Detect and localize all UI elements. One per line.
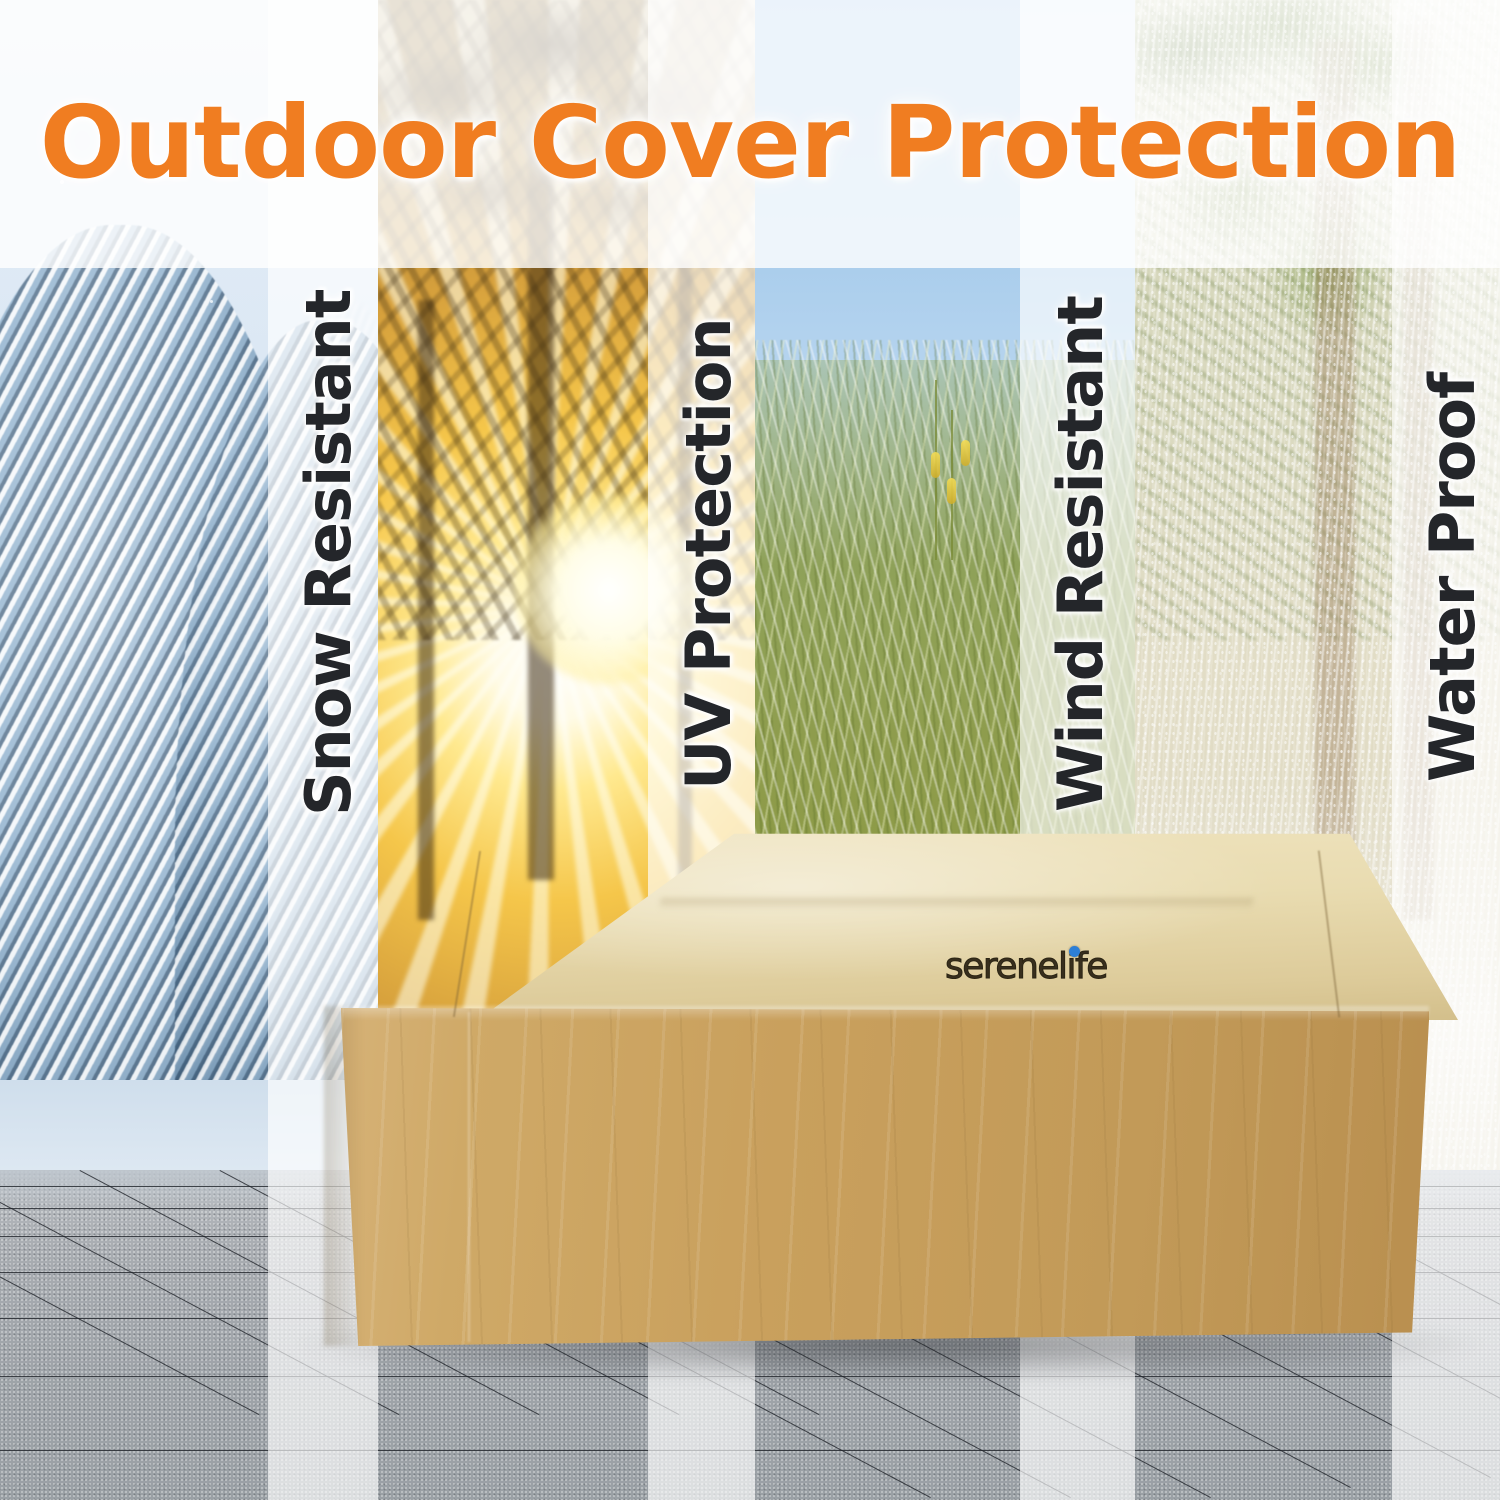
feature-label-uv-protection: UV Protection — [672, 318, 745, 790]
cover-top-sheen — [318, 830, 1458, 1020]
snowflake — [210, 300, 213, 303]
cover-top-rim-highlight — [341, 1006, 1430, 1020]
uv-tree-trunk — [528, 120, 554, 880]
brand-logo-dot-icon — [1069, 946, 1080, 957]
feature-label-snow-resistant: Snow Resistant — [292, 290, 365, 816]
cover-left-edge-shading — [324, 1006, 364, 1346]
wind-yellow-flower — [931, 452, 940, 478]
feature-label-water-proof: Water Proof — [1416, 373, 1489, 782]
patio-furniture-cover — [318, 830, 1458, 1350]
feature-label-wind-resistant: Wind Resistant — [1044, 296, 1117, 812]
headline-title: Outdoor Cover Protection — [0, 84, 1500, 201]
brand-logo: serenelife — [945, 942, 1145, 990]
wind-yellow-flower — [947, 478, 956, 504]
uv-tree-trunk — [418, 300, 434, 920]
brand-logo-text: serenelife — [945, 946, 1107, 987]
cover-seam — [453, 851, 481, 1017]
grout-line — [0, 1450, 1500, 1451]
cover-corner-highlight — [468, 1012, 470, 1342]
product-feature-image: serenelife Outdoor Cover Protection Snow… — [0, 0, 1500, 1500]
wind-yellow-flower — [961, 440, 970, 466]
cover-top-crease — [659, 898, 1253, 910]
cover-fabric-folds — [341, 1008, 1430, 1346]
snowflake — [130, 700, 133, 703]
grout-line — [0, 1170, 259, 1415]
